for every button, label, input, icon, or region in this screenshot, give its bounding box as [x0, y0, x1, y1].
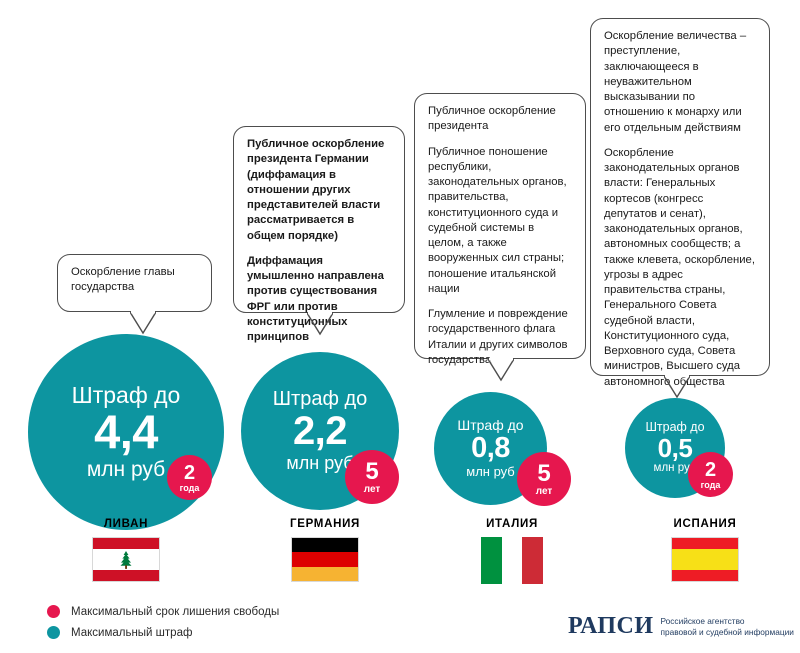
callout-italy-para-1: Публичное поношение республики, законода… — [428, 145, 573, 298]
country-block-lebanon: ЛИВАН — [51, 518, 201, 582]
legend-label-fine: Максимальный штраф — [71, 627, 192, 639]
callout-lebanon-para-0: Оскорбление главы государства — [71, 265, 199, 296]
infographic-canvas: Оскорбление главы государства Публичное … — [0, 0, 800, 653]
callout-lebanon: Оскорбление главы государства — [57, 254, 212, 312]
fine-value-germany: 2,2 — [293, 411, 347, 452]
country-name-italy: ИТАЛИЯ — [437, 518, 587, 530]
flag-germany-icon — [291, 537, 359, 582]
fine-unit-germany: млн руб — [286, 454, 353, 472]
prison-number-italy: 5 — [537, 462, 550, 486]
callout-germany: Публичное оскорбление президента Германи… — [233, 126, 405, 313]
flag-lebanon-icon — [92, 537, 160, 582]
country-name-lebanon: ЛИВАН — [51, 518, 201, 530]
prison-badge-lebanon: 2 года — [167, 455, 212, 500]
callout-italy-tail — [488, 358, 514, 380]
cedar-tree-icon — [115, 550, 137, 570]
prison-number-lebanon: 2 — [184, 463, 195, 483]
rapsi-logo-subtitle: Российское агентство правовой и судебной… — [661, 616, 794, 637]
callout-spain: Оскорбление величества – преступление, з… — [590, 18, 770, 376]
prison-number-spain: 2 — [705, 460, 716, 480]
rapsi-logo-line1: Российское агентство — [661, 616, 794, 627]
legend-label-prison: Максимальный срок лишения свободы — [71, 606, 279, 618]
prison-badge-germany: 5 лет — [345, 450, 399, 504]
rapsi-logo-mark: РАПСИ — [568, 613, 654, 640]
country-name-spain: ИСПАНИЯ — [630, 518, 780, 530]
prison-number-germany: 5 — [365, 460, 378, 484]
fine-value-spain: 0,5 — [658, 435, 693, 462]
callout-italy-para-0: Публичное оскорбление президента — [428, 104, 573, 135]
flag-italy-icon — [481, 537, 543, 584]
rapsi-logo: РАПСИ Российское агентство правовой и су… — [568, 613, 794, 640]
fine-prefix-spain: Штраф до — [645, 421, 704, 434]
callout-spain-para-1: Оскорбление законодательных органов влас… — [604, 146, 757, 390]
country-name-germany: ГЕРМАНИЯ — [250, 518, 400, 530]
flag-spain-icon — [671, 537, 739, 582]
legend-dot-fine-icon — [47, 626, 60, 639]
callout-germany-tail — [307, 312, 333, 334]
prison-unit-lebanon: года — [180, 484, 200, 493]
callout-spain-para-0: Оскорбление величества – преступление, з… — [604, 29, 757, 136]
callout-italy: Публичное оскорбление президента Публичн… — [414, 93, 586, 359]
prison-badge-spain: 2 года — [688, 452, 733, 497]
prison-unit-germany: лет — [364, 485, 381, 495]
country-block-germany: ГЕРМАНИЯ — [250, 518, 400, 582]
callout-germany-para-0: Публичное оскорбление президента Германи… — [247, 137, 392, 244]
legend: Максимальный срок лишения свободы Максим… — [47, 601, 279, 643]
fine-unit-lebanon: млн руб — [87, 459, 165, 480]
prison-badge-italy: 5 лет — [517, 452, 571, 506]
fine-unit-italy: млн руб — [466, 465, 515, 478]
legend-dot-prison-icon — [47, 605, 60, 618]
fine-circle-lebanon: Штраф до 4,4 млн руб — [28, 334, 224, 530]
callout-lebanon-tail — [130, 311, 156, 333]
fine-value-italy: 0,8 — [471, 434, 510, 464]
country-block-italy: ИТАЛИЯ — [437, 518, 587, 584]
fine-prefix-lebanon: Штраф до — [72, 384, 181, 407]
country-block-spain: ИСПАНИЯ — [630, 518, 780, 582]
rapsi-logo-line2: правовой и судебной информации — [661, 627, 794, 638]
fine-prefix-italy: Штраф до — [457, 418, 523, 432]
prison-unit-spain: года — [701, 481, 721, 490]
legend-item-prison: Максимальный срок лишения свободы — [47, 601, 279, 622]
fine-value-lebanon: 4,4 — [94, 408, 158, 456]
callout-spain-tail — [664, 375, 690, 397]
fine-prefix-germany: Штраф до — [273, 389, 368, 409]
legend-item-fine: Максимальный штраф — [47, 622, 279, 643]
prison-unit-italy: лет — [536, 487, 553, 497]
